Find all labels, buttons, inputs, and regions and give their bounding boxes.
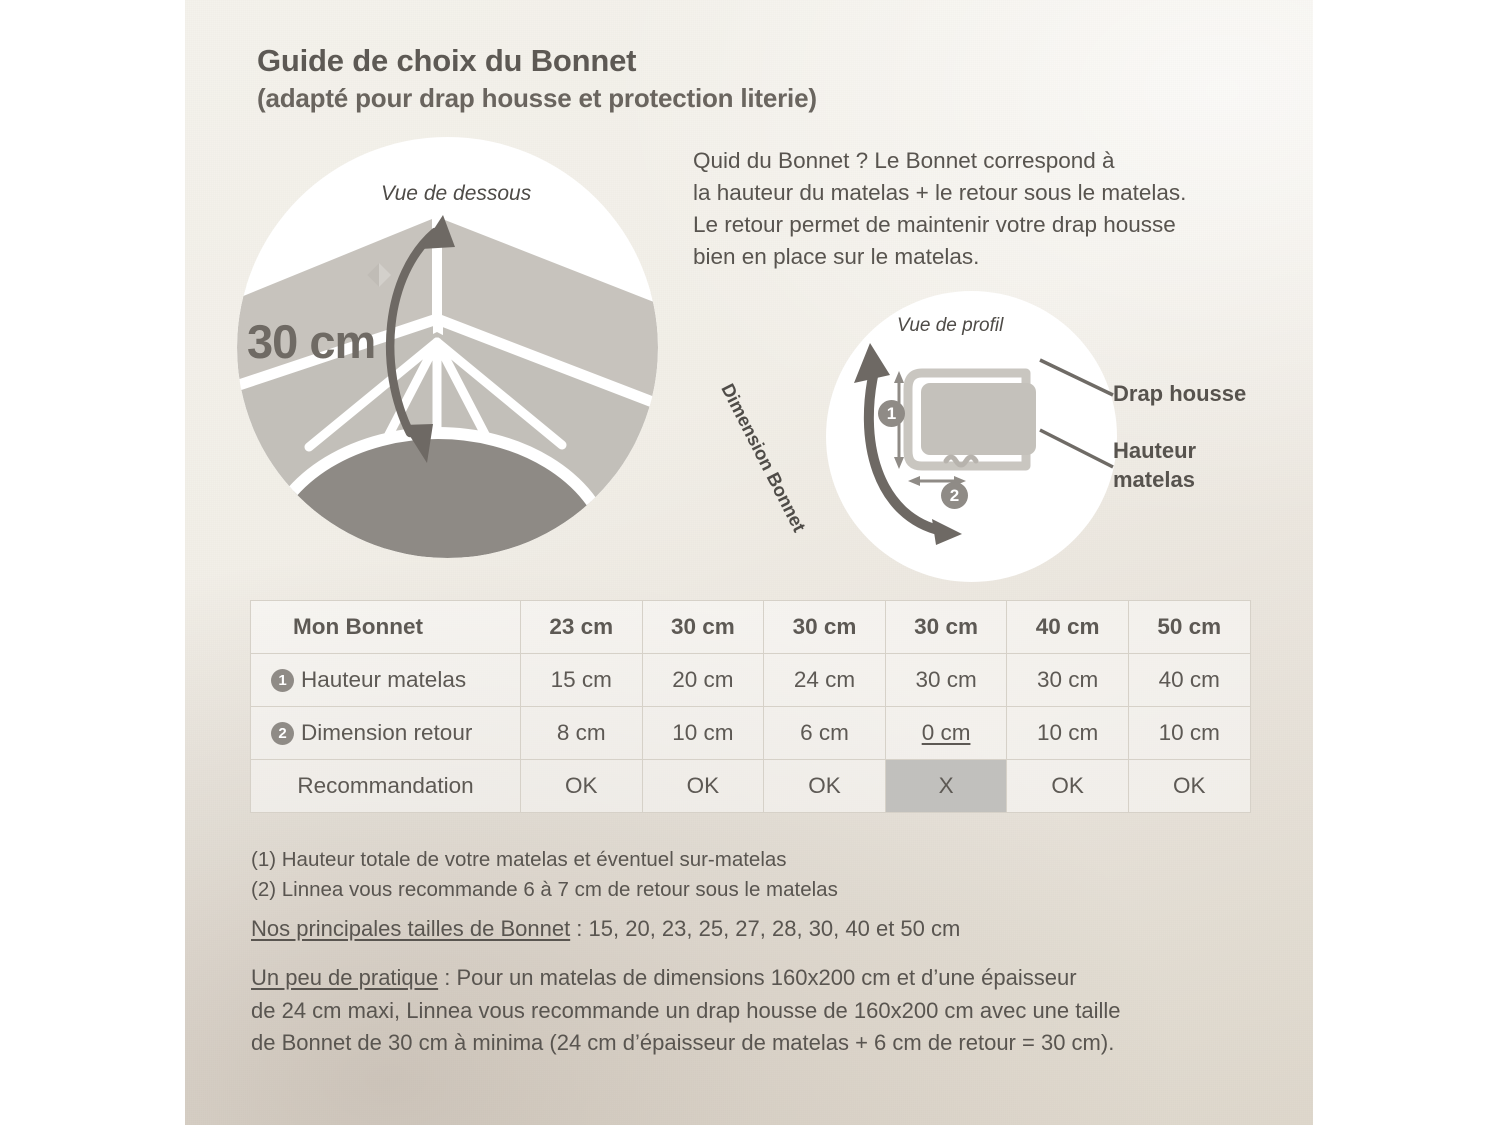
cell-hauteur-1: 15 cm xyxy=(521,654,643,707)
row-label-dimension-retour: 2Dimension retour xyxy=(251,707,521,760)
table-row-recommandation: Recommandation OK OK OK X OK OK xyxy=(251,760,1251,813)
practice-line-1-rest: : Pour un matelas de dimensions 160x200 … xyxy=(438,965,1076,990)
row-label-hauteur-matelas-text: Hauteur matelas xyxy=(301,667,466,692)
cell-retour-6: 10 cm xyxy=(1128,707,1250,760)
callout-drap-housse: Drap housse xyxy=(1113,380,1246,409)
mattress-block xyxy=(921,383,1036,455)
bonnet-dimension-label: Dimension Bonnet xyxy=(716,380,810,536)
cell-retour-3: 6 cm xyxy=(764,707,886,760)
table-row-mon-bonnet: Mon Bonnet 23 cm 30 cm 30 cm 30 cm 40 cm… xyxy=(251,601,1251,654)
bottom-view-label: Vue de dessous xyxy=(381,182,531,206)
cell-bonnet-1: 23 cm xyxy=(521,601,643,654)
bonnet-table-wrapper: Mon Bonnet 23 cm 30 cm 30 cm 30 cm 40 cm… xyxy=(250,600,1251,813)
sizes-rest: : 15, 20, 23, 25, 27, 28, 30, 40 et 50 c… xyxy=(570,916,960,941)
page-title: Guide de choix du Bonnet xyxy=(257,42,817,80)
table-row-dimension-retour: 2Dimension retour 8 cm 10 cm 6 cm 0 cm 1… xyxy=(251,707,1251,760)
row-label-dimension-retour-text: Dimension retour xyxy=(301,720,472,745)
content-panel: Guide de choix du Bonnet (adapté pour dr… xyxy=(185,0,1313,1125)
row-label-recommandation: Recommandation xyxy=(251,760,521,813)
row-label-mon-bonnet: Mon Bonnet xyxy=(251,601,521,654)
bonnet-measure-label: 30 cm xyxy=(247,314,375,369)
title-block: Guide de choix du Bonnet (adapté pour dr… xyxy=(257,42,817,114)
table-row-hauteur-matelas: 1Hauteur matelas 15 cm 20 cm 24 cm 30 cm… xyxy=(251,654,1251,707)
bonnet-guide-table: Mon Bonnet 23 cm 30 cm 30 cm 30 cm 40 cm… xyxy=(250,600,1251,813)
practice-heading: Un peu de pratique xyxy=(251,965,438,990)
infographic-page: Guide de choix du Bonnet (adapté pour dr… xyxy=(0,0,1500,1125)
intro-line-3: Le retour permet de maintenir votre drap… xyxy=(693,209,1273,241)
cell-retour-1: 8 cm xyxy=(521,707,643,760)
cell-bonnet-2: 30 cm xyxy=(642,601,764,654)
practice-line-2: de 24 cm maxi, Linnea vous recommande un… xyxy=(251,995,1261,1028)
sizes-heading: Nos principales tailles de Bonnet xyxy=(251,916,570,941)
cell-bonnet-6: 50 cm xyxy=(1128,601,1250,654)
badge-2-marker: 2 xyxy=(941,482,968,509)
cell-reco-6: OK xyxy=(1128,760,1250,813)
cell-hauteur-5: 30 cm xyxy=(1007,654,1129,707)
intro-line-1: Quid du Bonnet ? Le Bonnet correspond à xyxy=(693,145,1273,177)
footnote-1: (1) Hauteur totale de votre matelas et é… xyxy=(251,845,838,875)
cell-bonnet-3: 30 cm xyxy=(764,601,886,654)
cell-hauteur-3: 24 cm xyxy=(764,654,886,707)
side-view-label: Vue de profil xyxy=(897,315,1003,337)
cell-reco-2: OK xyxy=(642,760,764,813)
cell-reco-4: X xyxy=(885,760,1007,813)
cell-retour-2: 10 cm xyxy=(642,707,764,760)
cell-retour-4: 0 cm xyxy=(885,707,1007,760)
badge-1-row: 1 xyxy=(271,669,294,692)
footnote-2: (2) Linnea vous recommande 6 à 7 cm de r… xyxy=(251,875,838,905)
intro-line-4: bien en place sur le matelas. xyxy=(693,241,1273,273)
badge-2-row: 2 xyxy=(271,722,294,745)
cell-retour-5: 10 cm xyxy=(1007,707,1129,760)
cell-bonnet-5: 40 cm xyxy=(1007,601,1129,654)
callout-hauteur-matelas: Hauteur matelas xyxy=(1113,437,1196,494)
practice-block: Un peu de pratique : Pour un matelas de … xyxy=(251,962,1261,1060)
practice-line-1: Un peu de pratique : Pour un matelas de … xyxy=(251,962,1261,995)
badge-2: 2 xyxy=(941,482,968,509)
badge-1-marker: 1 xyxy=(878,400,905,427)
cell-hauteur-6: 40 cm xyxy=(1128,654,1250,707)
callout-hauteur-line-2: matelas xyxy=(1113,466,1196,495)
intro-line-2: la hauteur du matelas + le retour sous l… xyxy=(693,177,1273,209)
cell-reco-1: OK xyxy=(521,760,643,813)
footnotes-block: (1) Hauteur totale de votre matelas et é… xyxy=(251,845,838,904)
page-subtitle: (adapté pour drap housse et protection l… xyxy=(257,82,817,115)
row-label-hauteur-matelas: 1Hauteur matelas xyxy=(251,654,521,707)
badge-1: 1 xyxy=(878,400,905,427)
cell-hauteur-2: 20 cm xyxy=(642,654,764,707)
callout-hauteur-line-1: Hauteur xyxy=(1113,437,1196,466)
cell-hauteur-4: 30 cm xyxy=(885,654,1007,707)
intro-paragraph: Quid du Bonnet ? Le Bonnet correspond à … xyxy=(693,145,1273,273)
sizes-line: Nos principales tailles de Bonnet : 15, … xyxy=(251,914,960,945)
cell-reco-5: OK xyxy=(1007,760,1129,813)
cell-retour-4-text: 0 cm xyxy=(922,720,971,745)
cell-bonnet-4: 30 cm xyxy=(885,601,1007,654)
practice-line-3: de Bonnet de 30 cm à minima (24 cm d’épa… xyxy=(251,1027,1261,1060)
cell-reco-3: OK xyxy=(764,760,886,813)
